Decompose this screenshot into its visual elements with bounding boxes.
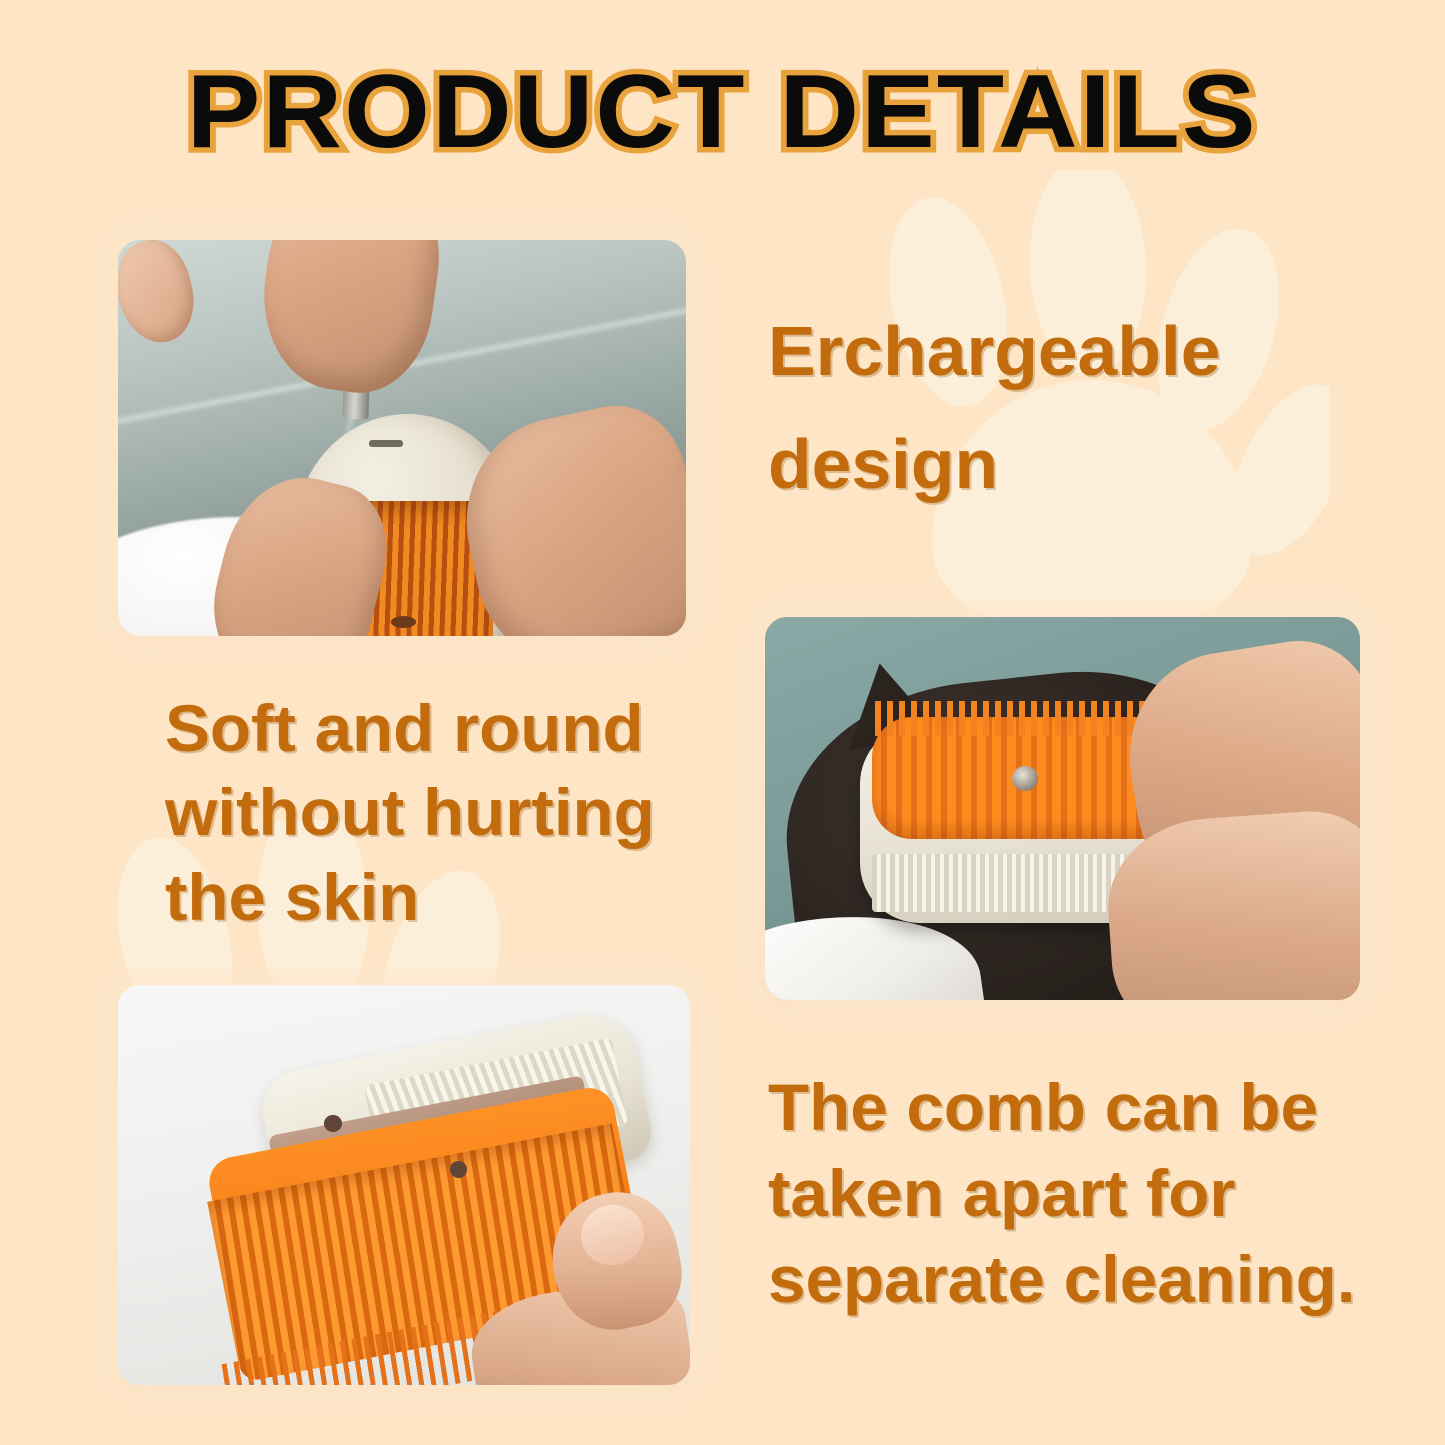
product-details-infographic: PRODUCT DETAILS <box>0 0 1445 1445</box>
page-title: PRODUCT DETAILS <box>187 58 1258 167</box>
photo-rechargeable-content <box>118 240 686 636</box>
caption-comb-detachable: The comb can be taken apart for separate… <box>768 1065 1400 1322</box>
photo-detach-content <box>118 985 690 1385</box>
page-title-container: PRODUCT DETAILS <box>0 58 1445 167</box>
caption-rechargeable-design: Erchargeable design <box>768 295 1298 522</box>
charging-port <box>369 440 403 448</box>
photo-cat-content <box>765 617 1360 1000</box>
photo-rechargeable-charging <box>118 240 686 636</box>
water-outlet-hole-1 <box>324 1115 342 1132</box>
photo-soft-round-on-cat <box>765 617 1360 1000</box>
caption-soft-and-round: Soft and round without hurting the skin <box>165 686 695 939</box>
photo-detachable-comb <box>118 985 690 1385</box>
water-outlet-hole-2 <box>450 1161 468 1178</box>
steam-nozzle-hole <box>391 616 417 628</box>
